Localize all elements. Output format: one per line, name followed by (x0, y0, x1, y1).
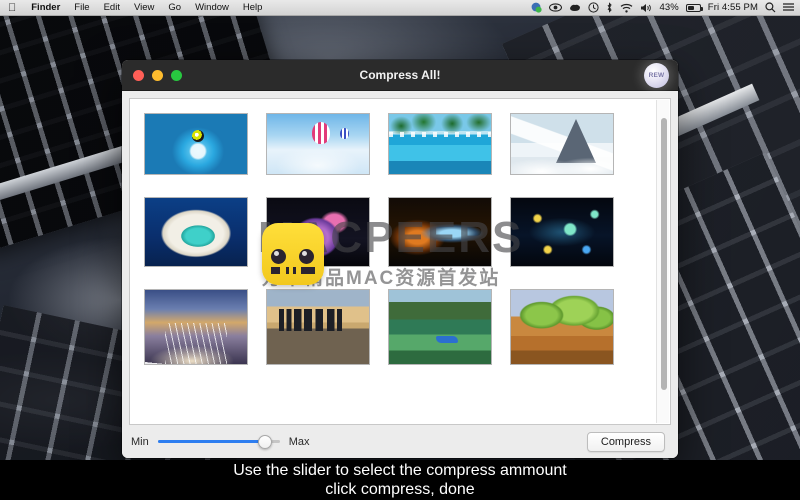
bluetooth-icon[interactable] (606, 2, 613, 13)
sync-badge-icon[interactable] (531, 2, 542, 13)
window-title: Compress All! (122, 68, 678, 82)
thumbnail-scroll-area[interactable]: MACPEERS 万千精品MAC资源首发站 (129, 98, 671, 425)
compress-all-window[interactable]: Compress All! REW (122, 60, 678, 458)
thumbnail-row (144, 289, 652, 365)
menu-bar:  Finder File Edit View Go Window Help 4… (0, 0, 800, 16)
thumb-fantasy-trees[interactable] (510, 289, 614, 365)
slider-max-label: Max (289, 436, 310, 448)
menu-item-view[interactable]: View (127, 0, 161, 16)
traffic-light-buttons (122, 70, 182, 81)
thumb-nebula[interactable] (388, 197, 492, 267)
window-titlebar[interactable]: Compress All! REW (122, 60, 678, 91)
thumb-fishbowl[interactable] (144, 113, 248, 175)
dropbox-icon[interactable] (569, 3, 581, 13)
maximize-button[interactable] (171, 70, 182, 81)
search-icon[interactable] (765, 2, 776, 13)
thumb-jellyfish[interactable] (266, 197, 370, 267)
battery-icon[interactable] (686, 4, 701, 12)
slider-min-label: Min (131, 436, 149, 448)
menu-item-file[interactable]: File (67, 0, 96, 16)
battery-percent-label: 43% (659, 2, 678, 13)
thumbnail-grid (130, 99, 670, 371)
notification-center-icon[interactable] (783, 3, 794, 13)
slider-track-fill (158, 440, 265, 443)
rew-badge-icon[interactable]: REW (644, 63, 669, 88)
caption-line-1: Use the slider to select the compress am… (233, 461, 566, 480)
thumb-atoll-island[interactable] (144, 197, 248, 267)
thumb-snow-peak[interactable] (510, 113, 614, 175)
slider-knob[interactable] (258, 435, 272, 449)
vertical-scrollbar[interactable] (656, 100, 669, 423)
scrollbar-thumb[interactable] (661, 118, 667, 390)
menu-bar-left:  Finder File Edit View Go Window Help (0, 0, 269, 16)
menu-bar-status-area: 43% Fri 4:55 PM (531, 2, 800, 13)
menu-item-help[interactable]: Help (236, 0, 270, 16)
eye-icon[interactable] (549, 3, 562, 12)
compression-slider[interactable] (158, 434, 280, 450)
thumbnail-row (144, 113, 652, 175)
compress-button[interactable]: Compress (587, 432, 665, 452)
thumb-highway-light-trails[interactable] (144, 289, 248, 365)
thumb-pool-palms[interactable] (388, 113, 492, 175)
menu-item-finder[interactable]: Finder (24, 0, 67, 16)
thumb-city-skyline[interactable] (266, 289, 370, 365)
thumb-hot-air-balloons[interactable] (266, 113, 370, 175)
close-button[interactable] (133, 70, 144, 81)
bottom-toolbar: Min Max Compress (129, 425, 671, 458)
caption-line-2: click compress, done (325, 480, 474, 499)
window-body: MACPEERS 万千精品MAC资源首发站 Min Max Compress (122, 91, 678, 458)
menu-item-go[interactable]: Go (161, 0, 188, 16)
wifi-icon[interactable] (620, 3, 633, 13)
volume-icon[interactable] (640, 3, 652, 13)
thumb-galaxy-spheres[interactable] (510, 197, 614, 267)
menu-item-edit[interactable]: Edit (97, 0, 127, 16)
thumb-lake-boat[interactable] (388, 289, 492, 365)
apple-icon[interactable]:  (6, 0, 24, 16)
clock-icon[interactable] (588, 2, 599, 13)
menu-bar-clock[interactable]: Fri 4:55 PM (708, 2, 758, 13)
caption-bar: Use the slider to select the compress am… (0, 460, 800, 500)
thumbnail-row (144, 197, 652, 267)
menu-item-window[interactable]: Window (188, 0, 236, 16)
minimize-button[interactable] (152, 70, 163, 81)
